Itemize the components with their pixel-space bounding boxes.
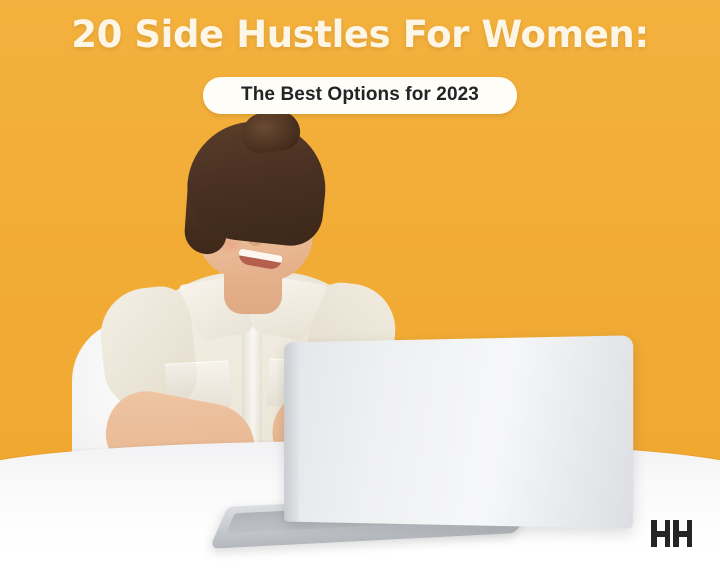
laptop-lid [284, 335, 633, 528]
subtitle-badge-wrap: The Best Options for 2023 [0, 77, 720, 114]
logo-h-crossbar [651, 531, 670, 537]
logo-h-crossbar [673, 531, 692, 537]
laptop-lid-edge [284, 342, 299, 522]
logo-letter-h-first [651, 520, 670, 547]
subtitle-badge: The Best Options for 2023 [203, 77, 517, 114]
page-title: 20 Side Hustles For Women: [0, 16, 720, 53]
logo-letter-h-second [673, 520, 692, 547]
hh-logo [651, 520, 692, 547]
cover-image: 20 Side Hustles For Women: The Best Opti… [0, 0, 720, 571]
laptop [258, 339, 638, 549]
